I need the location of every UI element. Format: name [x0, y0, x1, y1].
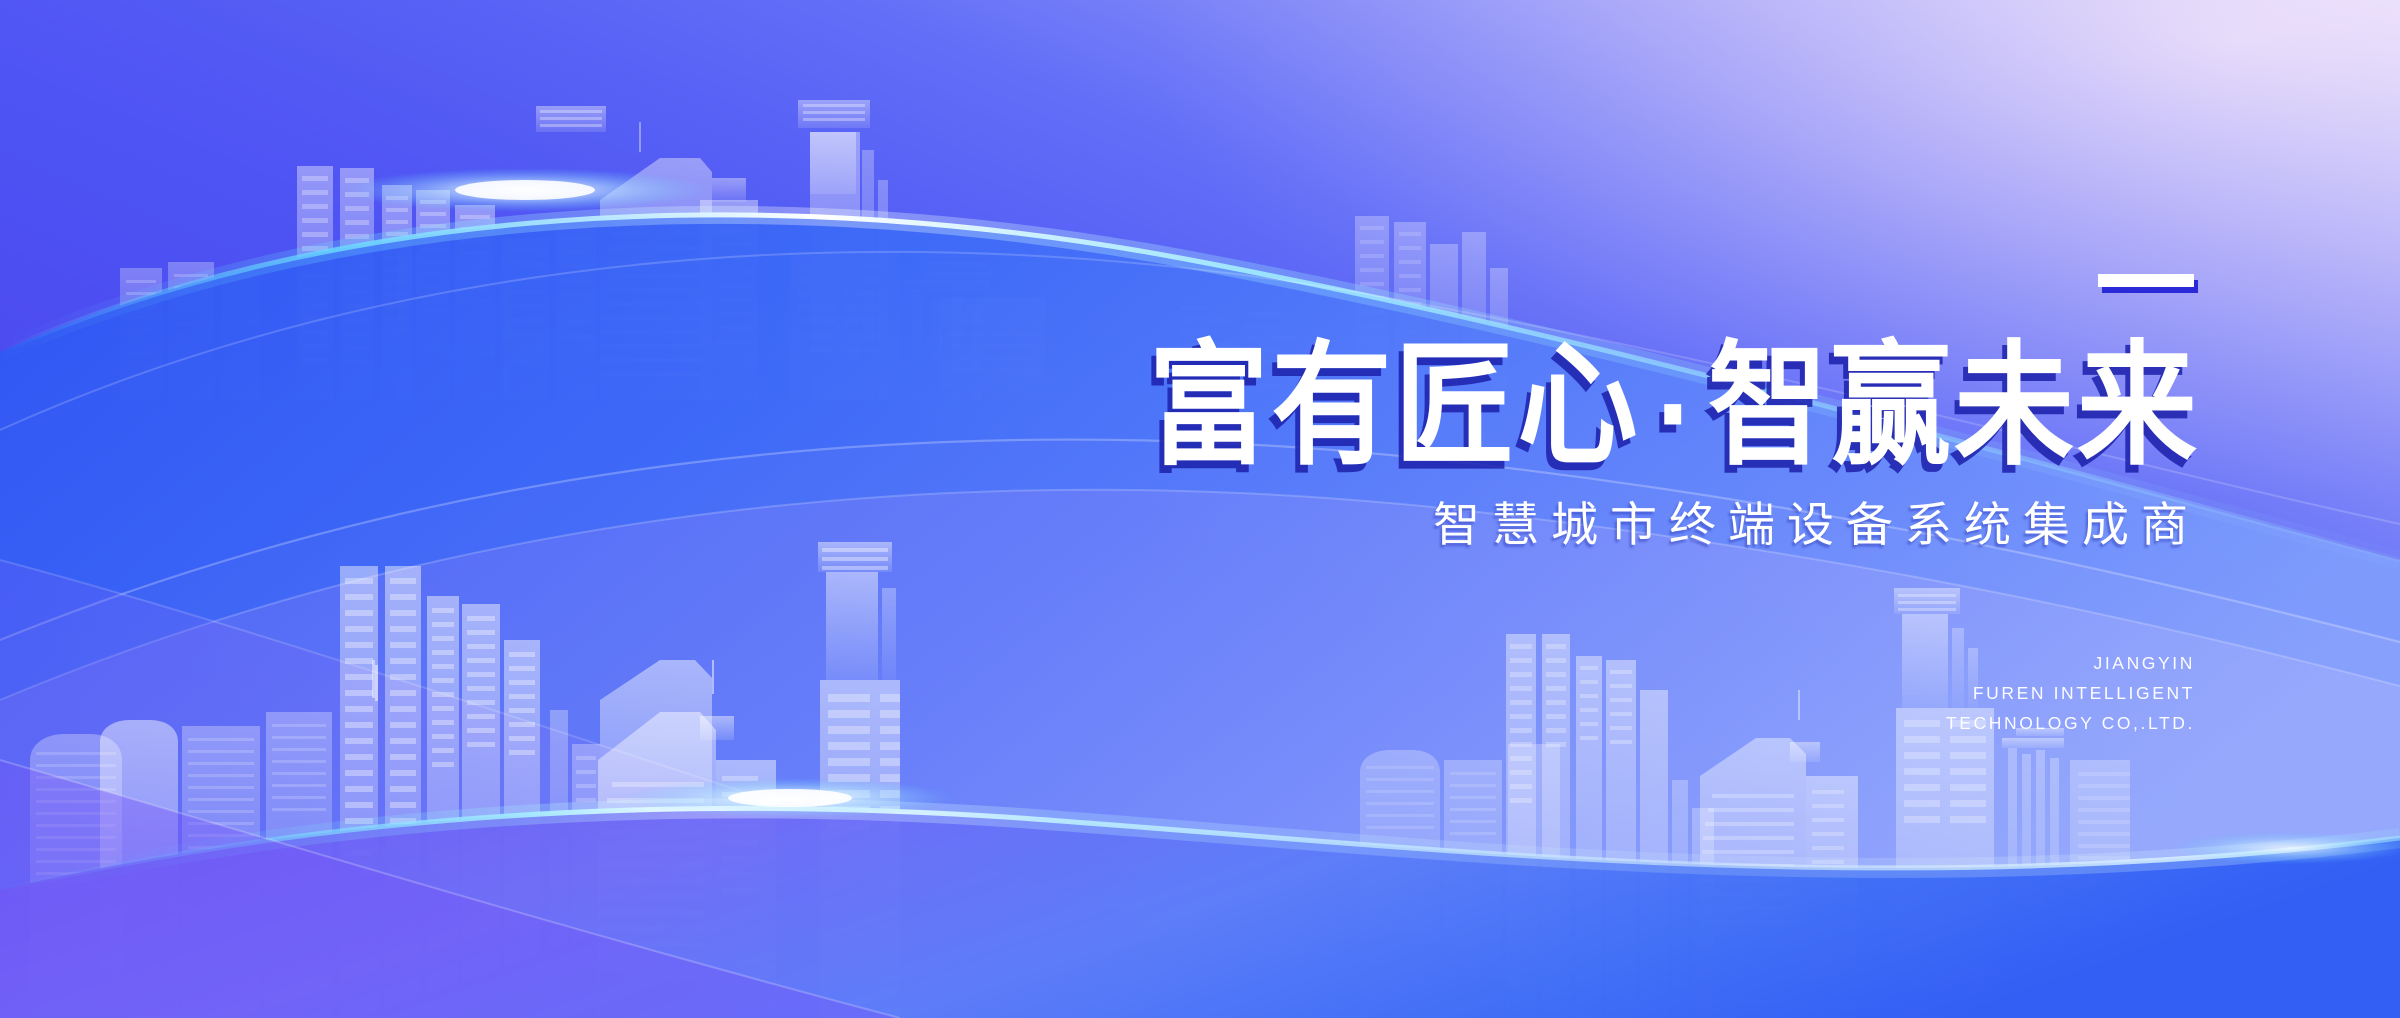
headline-part-2: 智赢未来: [1708, 329, 2200, 485]
page-subtitle: 智慧城市终端设备系统集成商: [1200, 500, 2200, 552]
company-line-3: TECHNOLOGY CO,.LTD.: [1946, 708, 2195, 738]
company-line-1: JIANGYIN: [1946, 648, 2195, 678]
banner-canvas: 富有匠心·智赢未来 智慧城市终端设备系统集成商 JIANGYIN FUREN I…: [0, 0, 2400, 1018]
company-name-block: JIANGYIN FUREN INTELLIGENT TECHNOLOGY CO…: [1946, 648, 2195, 738]
company-line-2: FUREN INTELLIGENT: [1946, 678, 2195, 708]
headline-separator: ·: [1641, 353, 1708, 478]
headline-part-1: 富有匠心: [1149, 329, 1641, 485]
decorative-dash: [2098, 274, 2194, 287]
page-title: 富有匠心·智赢未来: [1060, 340, 2200, 474]
